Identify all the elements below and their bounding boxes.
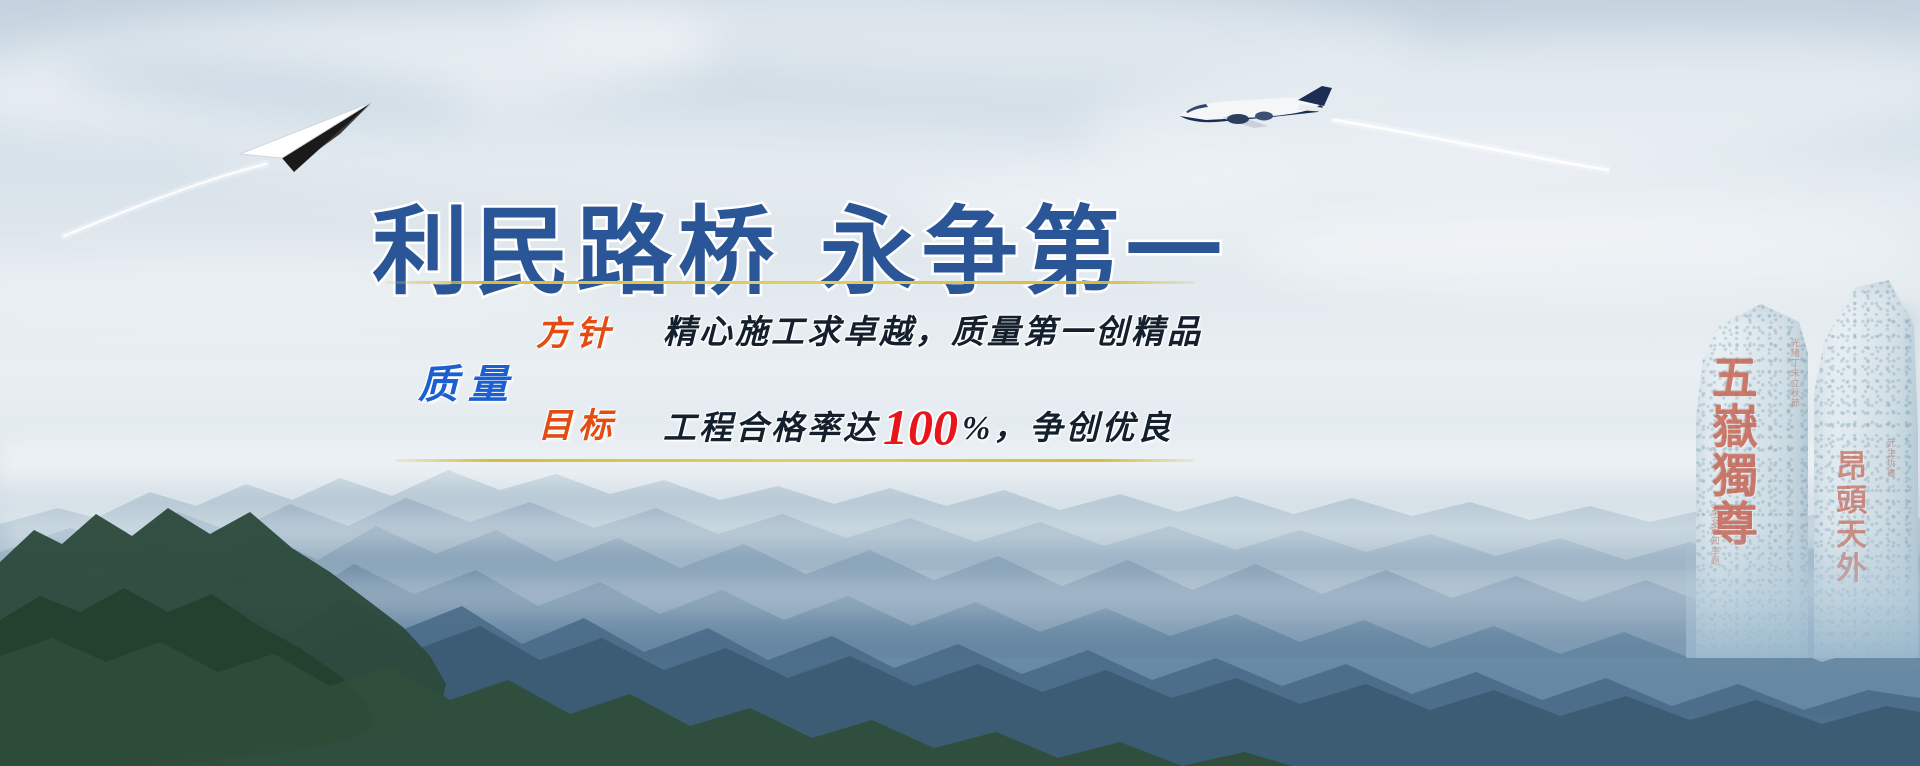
divider-top	[385, 281, 1195, 284]
page-title: 利民路桥 永争第一	[0, 174, 1600, 313]
keyword-policy: 方针	[536, 306, 616, 355]
slogan-line-1: 精心施工求卓越，质量第一创精品	[663, 305, 1203, 353]
slogan-line-2-suffix: ，争创优良	[993, 408, 1173, 447]
slogan-line-2-prefix: 工程合格率达	[663, 408, 879, 447]
slogan-line-2: 工程合格率达100%，争创优良	[663, 398, 1173, 456]
quality-rate-value: 100	[879, 399, 962, 455]
keyword-quality: 质量	[418, 352, 518, 410]
keyword-goal: 目标	[538, 398, 618, 447]
hero-banner: 五嶽獨尊 昂頭天外 光緒丁未立秋節 泰安府知事題 元生圻書	[0, 0, 1920, 766]
banner-content: 利民路桥 永争第一 质量 方针 目标 精心施工求卓越，质量第一创精品 工程合格率…	[0, 0, 1920, 766]
percent-sign: %	[962, 410, 993, 447]
divider-bottom	[395, 459, 1195, 462]
